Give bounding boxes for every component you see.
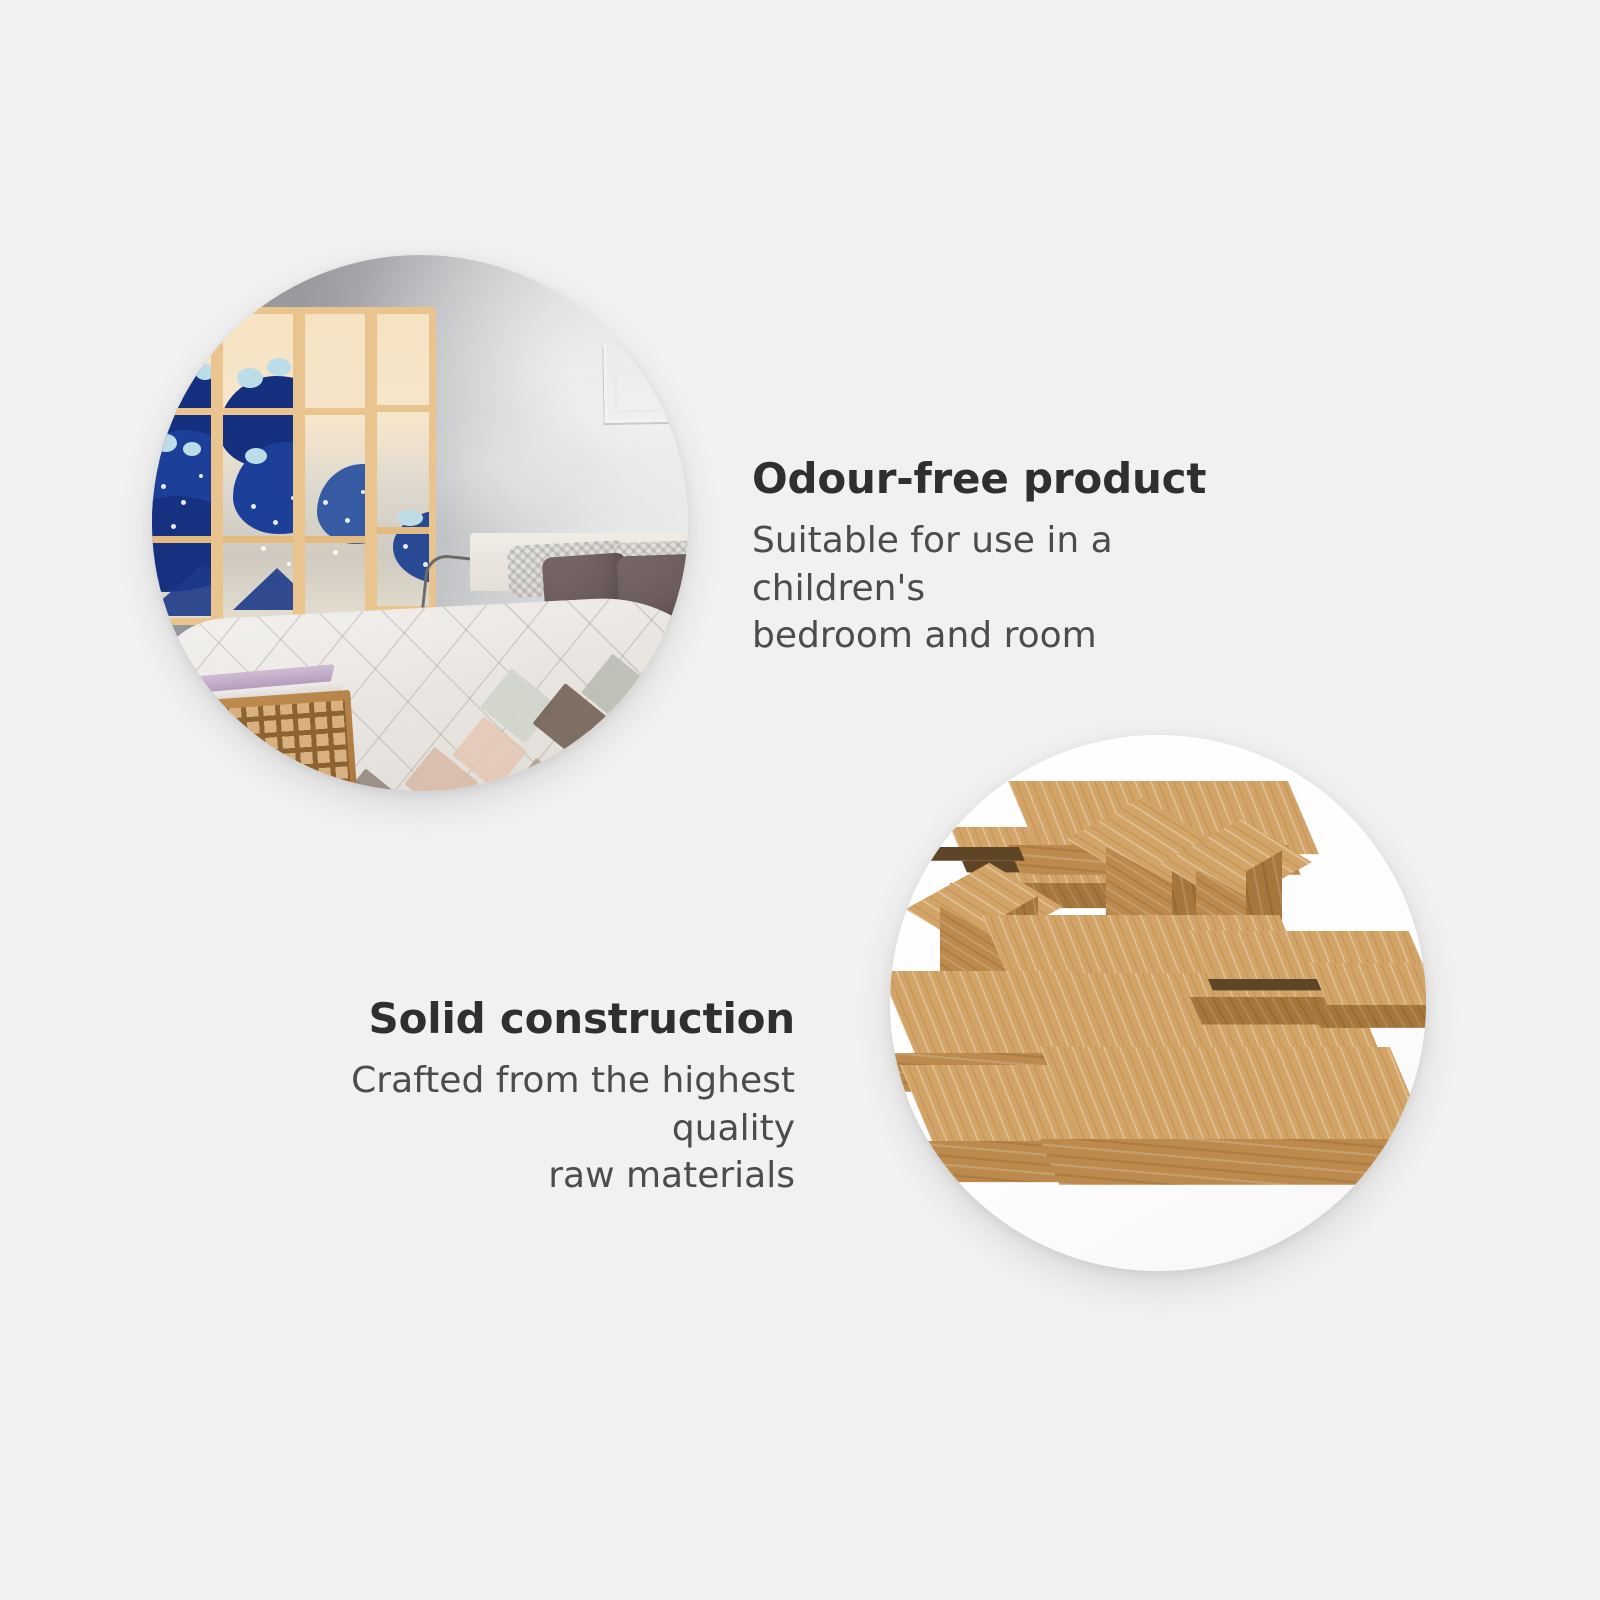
- feature-title-solid-construction: Solid construction: [255, 995, 795, 1043]
- feature-subtitle-odour-free: Suitable for use in a children's bedroom…: [752, 517, 1272, 660]
- plank-front-main-front: [1040, 1139, 1409, 1185]
- bedroom-photo: [152, 255, 688, 791]
- feature-text-solid-construction: Solid construction Crafted from the high…: [255, 995, 795, 1200]
- wood-photo-circle: [890, 735, 1426, 1271]
- reading-lamp-icon: [421, 553, 472, 612]
- feature-subtitle-line-2: raw materials: [548, 1155, 795, 1196]
- plank-front-main-top: [1040, 1047, 1426, 1152]
- basket-weave-pattern: [207, 700, 352, 791]
- feature-banner: Odour-free product Suitable for use in a…: [0, 0, 1600, 1600]
- feature-subtitle-line-1: Suitable for use in a children's: [752, 520, 1113, 609]
- feature-subtitle-line-2: bedroom and room: [752, 615, 1097, 656]
- plank-far-right-side: [1310, 1005, 1426, 1028]
- wooden-basket: [200, 690, 357, 791]
- feature-subtitle-solid-construction: Crafted from the highest quality raw mat…: [255, 1057, 795, 1200]
- bedroom-photo-circle: [152, 255, 688, 791]
- plank-gap-2: [914, 847, 1025, 861]
- wood-photo: [890, 735, 1426, 1271]
- wave-artwork-slice-3: [298, 314, 372, 625]
- screen-panel-1: [152, 307, 218, 625]
- picture-frame-icon: [603, 342, 688, 423]
- screen-panel-3: [298, 307, 372, 625]
- wave-artwork-slice-1: [152, 314, 218, 625]
- feature-subtitle-line-1: Crafted from the highest quality: [351, 1060, 795, 1149]
- wave-artwork-slice-2: [216, 314, 300, 625]
- folding-screen: [152, 307, 454, 627]
- feature-title-odour-free: Odour-free product: [752, 455, 1272, 503]
- feature-text-odour-free: Odour-free product Suitable for use in a…: [752, 455, 1272, 660]
- screen-panel-2: [216, 307, 300, 625]
